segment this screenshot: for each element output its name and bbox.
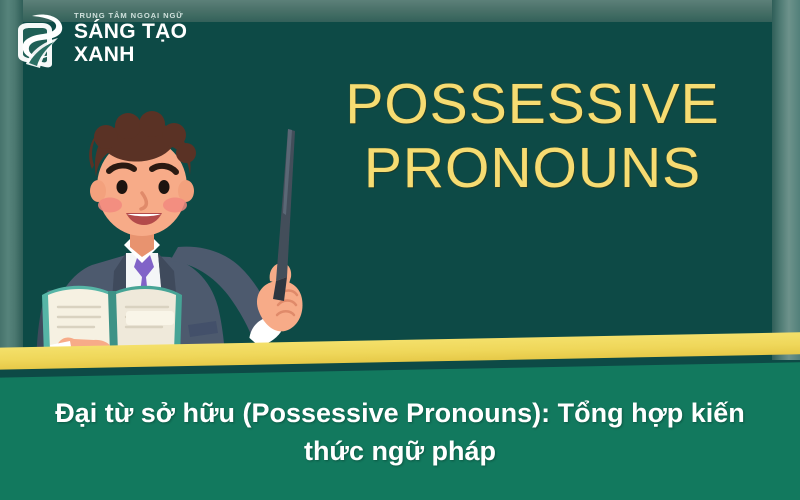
headline-line-2: PRONOUNS (290, 136, 775, 200)
brand-logo-text: TRUNG TÂM NGOẠI NGỮ SÁNG TẠO XANH (74, 10, 214, 66)
book-leaf-s-logo-icon (12, 8, 68, 70)
board-headline: POSSESSIVE PRONOUNS (290, 72, 775, 200)
chalkboard-frame-right (772, 0, 800, 378)
brand-logo[interactable]: TRUNG TÂM NGOẠI NGỮ SÁNG TẠO XANH (12, 8, 212, 74)
poster-canvas: POSSESSIVE PRONOUNS (0, 0, 800, 500)
caption-line-1: Đại từ sở hữu (Possessive Pronouns): Tổn… (55, 398, 623, 428)
brand-line-2: XANH (74, 43, 214, 66)
brand-line-1: SÁNG TẠO (74, 21, 214, 43)
headline-line-1: POSSESSIVE (345, 72, 719, 136)
caption-title: Đại từ sở hữu (Possessive Pronouns): Tổn… (40, 394, 760, 470)
teacher-illustration (30, 95, 330, 378)
caption-band: Đại từ sở hữu (Possessive Pronouns): Tổn… (0, 360, 800, 500)
